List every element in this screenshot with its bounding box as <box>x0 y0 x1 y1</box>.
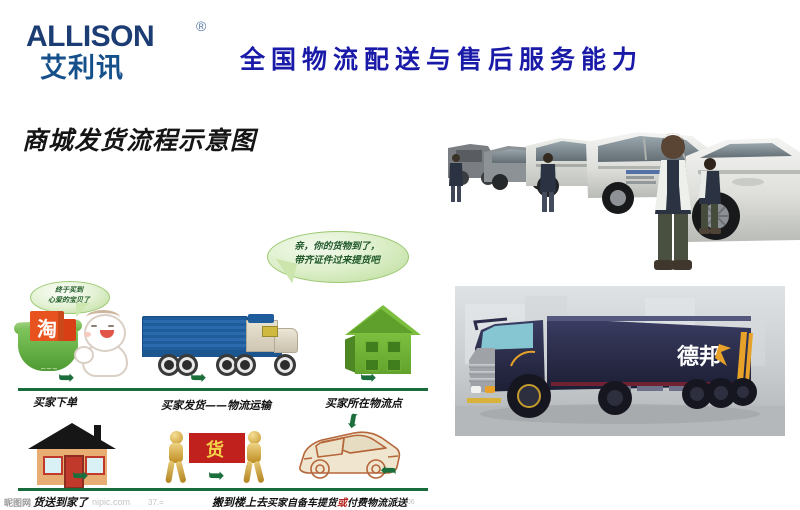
house-roof-inner <box>349 309 413 333</box>
character-arm <box>74 346 94 364</box>
flow-arrow-icon: ➥ <box>380 461 397 481</box>
character-hair <box>86 310 120 325</box>
brand-logo-latin: ALLISON <box>26 20 154 53</box>
speech-bubble-text: 终于买到心爱的宝贝了 <box>34 285 104 305</box>
truck-trailer <box>142 316 248 352</box>
photo-service-vehicle-fleet <box>448 118 800 278</box>
flow-divider-line <box>18 388 428 391</box>
truck-wheel <box>234 354 256 376</box>
porter-figure-left <box>163 431 189 483</box>
shipping-flow-diagram: 商城发货流程示意图 亲，你的货物到了，带齐证件过来提货吧 终于买到心爱的宝贝了 … <box>0 105 440 425</box>
caption-part-b: 付费物流派送 <box>347 498 407 509</box>
flow-divider-line <box>18 488 428 491</box>
cart-box-primary <box>30 311 64 341</box>
house-window <box>387 359 401 371</box>
flow-step-caption-pickup-option: 买家自备车提货或付费物流派送 <box>267 494 407 509</box>
character-eye-left <box>91 325 97 327</box>
porter-torso <box>247 443 261 463</box>
flow-step-caption-logistics-point: 买家所在物流点 <box>325 395 402 411</box>
cargo-crate-icon <box>187 431 247 465</box>
flow-arrow-icon: ➥ <box>58 367 75 387</box>
page-title: 全国物流配送与售后服务能力 <box>240 40 770 76</box>
house-window <box>365 341 379 353</box>
flow-arrow-icon: ➥ <box>72 465 89 485</box>
house-roof <box>28 423 116 449</box>
watermark-code: 37.= <box>148 498 164 507</box>
registered-trademark-icon: ® <box>196 18 206 34</box>
truck-cab-roof <box>248 314 274 323</box>
photo-deppon-truck: 德邦 <box>455 286 785 436</box>
watermark-site-cn: 昵图网 <box>4 496 31 509</box>
watermark-id: 106 <box>403 499 415 506</box>
character-eye-right <box>108 325 114 327</box>
house-window <box>387 341 401 353</box>
truck-brand-text: 德邦 <box>677 344 721 370</box>
flow-arrow-icon: ➥ <box>360 367 377 387</box>
slide-header: ALLISON ® 艾利讯 全国物流配送与售后服务能力 <box>0 0 800 100</box>
flow-step-caption-delivered-home: 货送到家了 <box>33 494 88 510</box>
watermark-site-en: nipic.com <box>92 497 130 507</box>
green-house-icon <box>345 305 421 377</box>
flow-step-caption-shipping: 买家发货——物流运输 <box>161 397 271 413</box>
truck-wheel <box>274 354 296 376</box>
caption-part-a: 买家自备车提货 <box>267 498 337 509</box>
flow-arrow-icon: ➥ <box>208 465 225 485</box>
speech-bubble-delivery-notice: 亲，你的货物到了，带齐证件过来提货吧 <box>267 231 407 287</box>
caption-highlight: 或 <box>337 498 347 509</box>
flow-arrow-icon: ➥ <box>190 367 207 387</box>
shopper-character-icon <box>76 310 132 376</box>
semi-truck-icon <box>142 314 298 376</box>
character-cheek <box>84 332 91 337</box>
flow-step-caption-carry-upstairs: 搬到楼上去 <box>212 494 267 510</box>
flow-arrow-icon: ➥ <box>342 411 365 431</box>
brand-logo: ALLISON ® 艾利讯 <box>26 22 206 84</box>
porter-torso <box>169 443 183 463</box>
truck-window <box>262 326 278 337</box>
speech-bubble-text: 亲，你的货物到了，带齐证件过来提货吧 <box>275 240 399 268</box>
porter-leg <box>165 461 175 484</box>
flow-step-caption-order: 买家下单 <box>33 394 77 410</box>
porter-leg <box>175 461 186 484</box>
porter-leg <box>253 461 264 484</box>
diagram-title: 商城发货流程示意图 <box>22 121 256 157</box>
house-window <box>43 456 63 475</box>
brand-logo-chinese: 艾利讯 <box>40 54 206 84</box>
